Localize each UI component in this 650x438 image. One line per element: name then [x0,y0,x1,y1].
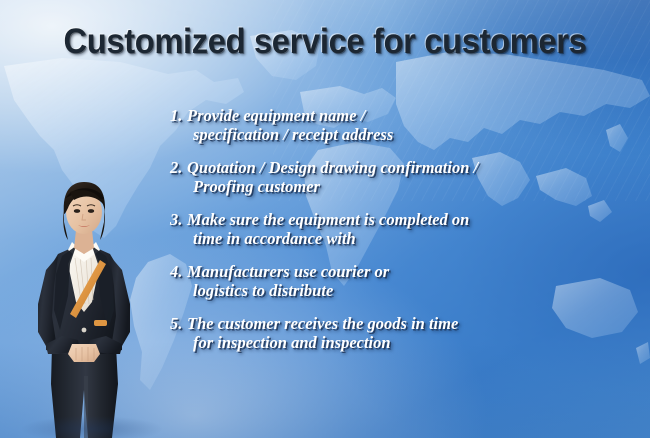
figure-ground-shadow [22,416,162,438]
list-item-line2: time in accordance with [187,229,600,248]
service-steps-list: 1. Provide equipment name / specificatio… [170,106,600,366]
slide-canvas: Customized service for customers 1. Prov… [0,0,650,438]
list-item-line2: specification / receipt address [187,125,600,144]
list-item-text: Quotation / Design drawing confirmation … [187,158,600,196]
list-item-number: 1. [170,106,187,125]
list-item-text: Make sure the equipment is completed on … [187,210,600,248]
list-item-line1: The customer receives the goods in time [187,314,458,333]
list-item-text: The customer receives the goods in time … [187,314,600,352]
list-item: 2. Quotation / Design drawing confirmati… [170,158,600,196]
list-item-text: Manufacturers use courier or logistics t… [187,262,600,300]
list-item-number: 2. [170,158,187,177]
list-item-line2: Proofing customer [187,177,600,196]
list-item: 1. Provide equipment name / specificatio… [170,106,600,144]
list-item-number: 4. [170,262,187,281]
list-item-number: 5. [170,314,187,333]
list-item-text: Provide equipment name / specification /… [187,106,600,144]
page-title: Customized service for customers [23,22,628,62]
list-item-line2: logistics to distribute [187,281,600,300]
list-item-line1: Manufacturers use courier or [187,262,389,281]
list-item-line1: Quotation / Design drawing confirmation … [187,158,478,177]
list-item: 4. Manufacturers use courier or logistic… [170,262,600,300]
list-item-number: 3. [170,210,187,229]
list-item-line2: for inspection and inspection [187,333,600,352]
list-item: 3. Make sure the equipment is completed … [170,210,600,248]
businesswoman-photo [8,178,160,438]
list-item-line1: Provide equipment name / [187,106,365,125]
list-item-line1: Make sure the equipment is completed on [187,210,469,229]
list-item: 5. The customer receives the goods in ti… [170,314,600,352]
